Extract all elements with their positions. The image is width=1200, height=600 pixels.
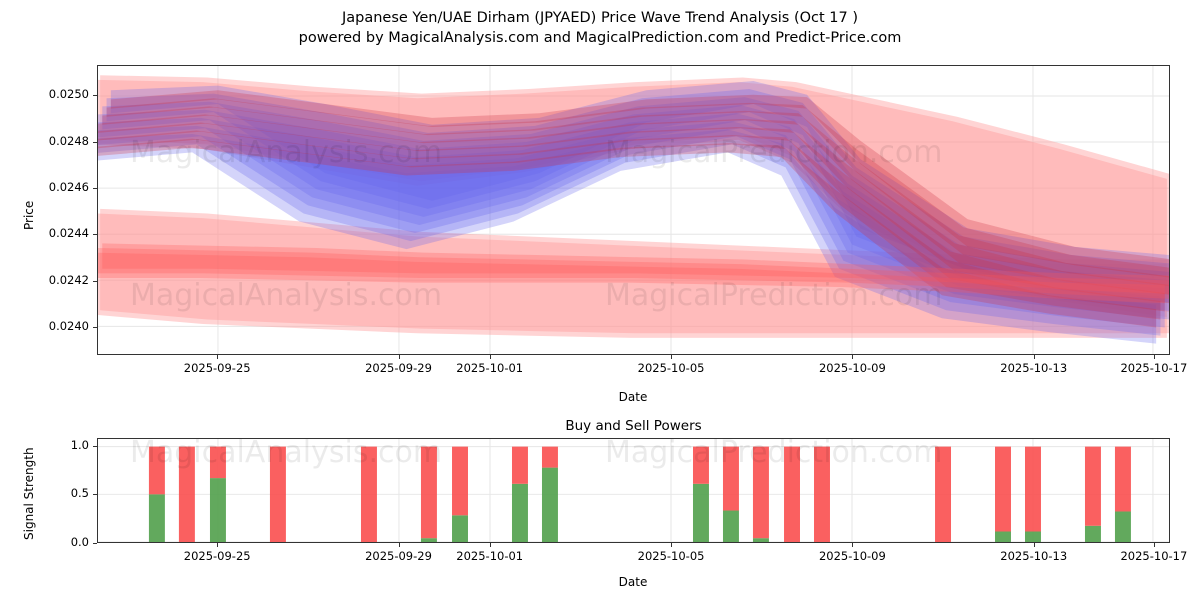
bar-buy-31 bbox=[1085, 526, 1101, 542]
lower-ytickmark-0 bbox=[93, 543, 97, 544]
bar-sell-28 bbox=[995, 447, 1011, 532]
bar-sell-19 bbox=[723, 447, 739, 511]
bar-buy-0 bbox=[149, 494, 165, 542]
main-ytickmark-2 bbox=[93, 234, 97, 235]
bar-sell-10 bbox=[452, 447, 468, 516]
bar-sell-13 bbox=[542, 447, 558, 468]
chart-title-line-1: Japanese Yen/UAE Dirham (JPYAED) Price W… bbox=[0, 8, 1200, 28]
lower-xaxis-label: Date bbox=[533, 575, 733, 589]
main-xtickmark-4 bbox=[852, 355, 853, 359]
bar-buy-19 bbox=[723, 511, 739, 542]
bar-sell-31 bbox=[1085, 447, 1101, 526]
bar-buy-18 bbox=[693, 484, 709, 542]
main-xtickmark-1 bbox=[399, 355, 400, 359]
lower-ytick-1: 0.5 bbox=[19, 486, 89, 500]
buy-sell-powers-title: Buy and Sell Powers bbox=[97, 418, 1170, 434]
chart-title-line-2: powered by MagicalAnalysis.com and Magic… bbox=[0, 28, 1200, 48]
lower-xtickmark-3 bbox=[671, 543, 672, 547]
lower-ytick-0: 0.0 bbox=[19, 535, 89, 549]
bar-buy-13 bbox=[542, 468, 558, 542]
bar-sell-2 bbox=[210, 447, 226, 478]
main-xtick-3: 2025-10-05 bbox=[611, 361, 731, 375]
lower-xtickmark-2 bbox=[490, 543, 491, 547]
lower-xtick-5: 2025-10-13 bbox=[974, 549, 1094, 563]
lower-xtick-2: 2025-10-01 bbox=[430, 549, 550, 563]
bar-sell-7 bbox=[361, 447, 377, 542]
bar-sell-0 bbox=[149, 447, 165, 495]
main-ytick-3: 0.0246 bbox=[19, 180, 89, 194]
lower-xtick-4: 2025-10-09 bbox=[792, 549, 912, 563]
main-ytick-4: 0.0248 bbox=[19, 134, 89, 148]
bar-sell-18 bbox=[693, 447, 709, 484]
main-xaxis-label: Date bbox=[533, 390, 733, 404]
main-xtick-5: 2025-10-13 bbox=[974, 361, 1094, 375]
lower-xtick-0: 2025-09-25 bbox=[157, 549, 277, 563]
bar-buy-2 bbox=[210, 478, 226, 542]
price-wave-plot bbox=[98, 66, 1169, 354]
bar-sell-12 bbox=[512, 447, 528, 484]
lower-xtickmark-4 bbox=[852, 543, 853, 547]
lower-xtickmark-0 bbox=[217, 543, 218, 547]
bar-sell-4 bbox=[270, 447, 286, 542]
main-xtick-4: 2025-10-09 bbox=[792, 361, 912, 375]
bar-buy-10 bbox=[452, 515, 468, 542]
main-ytickmark-5 bbox=[93, 95, 97, 96]
main-ytickmark-1 bbox=[93, 281, 97, 282]
bar-buy-12 bbox=[512, 484, 528, 542]
bar-sell-22 bbox=[814, 447, 830, 542]
lower-ytickmark-2 bbox=[93, 446, 97, 447]
main-ytick-0: 0.0240 bbox=[19, 319, 89, 333]
buy-sell-powers-axes bbox=[97, 438, 1170, 543]
bar-buy-32 bbox=[1115, 511, 1131, 542]
lower-ytick-2: 1.0 bbox=[19, 438, 89, 452]
lower-ytickmark-1 bbox=[93, 494, 97, 495]
bar-sell-29 bbox=[1025, 447, 1041, 532]
bar-sell-1 bbox=[179, 447, 195, 542]
chart-title-block: Japanese Yen/UAE Dirham (JPYAED) Price W… bbox=[0, 8, 1200, 48]
main-xtickmark-0 bbox=[217, 355, 218, 359]
bar-buy-20 bbox=[753, 538, 769, 542]
lower-xtickmark-6 bbox=[1154, 543, 1155, 547]
bar-buy-28 bbox=[995, 532, 1011, 542]
main-ytickmark-0 bbox=[93, 327, 97, 328]
bar-sell-20 bbox=[753, 447, 769, 539]
main-ytickmark-4 bbox=[93, 142, 97, 143]
price-wave-chart-axes bbox=[97, 65, 1170, 355]
bar-sell-9 bbox=[421, 447, 437, 539]
lower-xtick-3: 2025-10-05 bbox=[611, 549, 731, 563]
main-ytick-1: 0.0242 bbox=[19, 273, 89, 287]
main-xtickmark-6 bbox=[1154, 355, 1155, 359]
main-ytick-5: 0.0250 bbox=[19, 87, 89, 101]
bar-buy-29 bbox=[1025, 532, 1041, 542]
buy-sell-powers-plot bbox=[98, 439, 1169, 542]
main-xtickmark-2 bbox=[490, 355, 491, 359]
main-ytickmark-3 bbox=[93, 188, 97, 189]
main-xtick-6: 2025-10-17 bbox=[1094, 361, 1200, 375]
figure: Japanese Yen/UAE Dirham (JPYAED) Price W… bbox=[0, 0, 1200, 600]
main-xtick-0: 2025-09-25 bbox=[157, 361, 277, 375]
bar-sell-21 bbox=[784, 447, 800, 542]
main-xtickmark-3 bbox=[671, 355, 672, 359]
bar-buy-9 bbox=[421, 538, 437, 542]
bar-sell-26 bbox=[935, 447, 951, 542]
lower-xtick-6: 2025-10-17 bbox=[1094, 549, 1200, 563]
bar-sell-32 bbox=[1115, 447, 1131, 512]
main-ytick-2: 0.0244 bbox=[19, 226, 89, 240]
lower-xtickmark-5 bbox=[1034, 543, 1035, 547]
main-xtickmark-5 bbox=[1034, 355, 1035, 359]
lower-xtickmark-1 bbox=[399, 543, 400, 547]
main-xtick-2: 2025-10-01 bbox=[430, 361, 550, 375]
